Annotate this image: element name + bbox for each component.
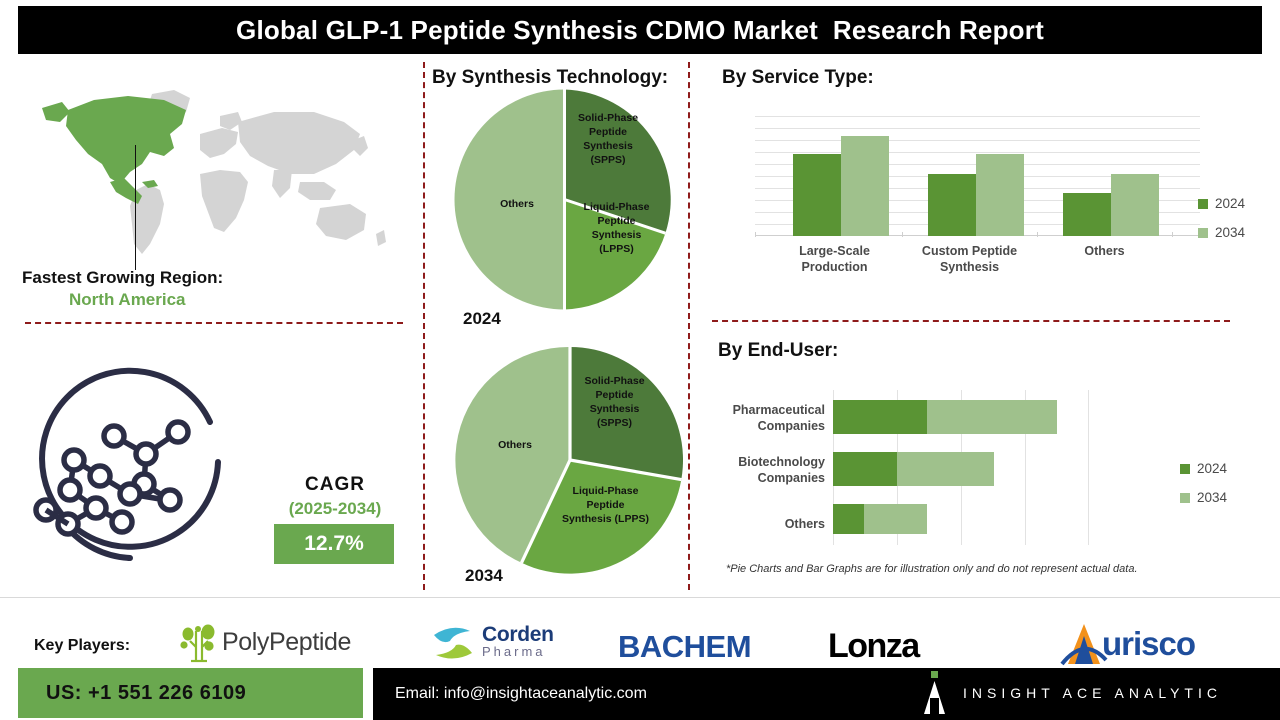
- footer-phone-bar: US: +1 551 226 6109: [18, 668, 363, 718]
- pie-2034-lpps-line2: Peptide: [548, 499, 663, 513]
- aurisco-mark-icon: [1060, 620, 1108, 668]
- bar-2024: [928, 174, 976, 236]
- pie-2024-spps-line4: (SPPS): [558, 154, 658, 168]
- divider-horizontal-right: [712, 320, 1230, 322]
- bar-row-pharmaceutical-companies: [833, 400, 1088, 434]
- divider-vertical-left: [423, 62, 425, 590]
- pie-2034-label-spps: Solid-Phase Peptide Synthesis (SPPS): [563, 375, 666, 430]
- logo-corden-line2: Pharma: [482, 645, 554, 659]
- legend-item-2034: 2034: [1180, 490, 1227, 505]
- header-bar: Global GLP-1 Peptide Synthesis CDMO Mark…: [18, 6, 1262, 54]
- footer-brand-name: INSIGHT ACE ANALYTIC: [963, 685, 1222, 701]
- section-title-service: By Service Type:: [722, 67, 874, 89]
- legend-swatch-2024: [1198, 199, 1208, 209]
- bar-2024: [1063, 193, 1111, 236]
- pie-2024-lpps-line3: Synthesis: [565, 229, 668, 243]
- fastest-growing-region-label: Fastest Growing Region:: [22, 268, 223, 288]
- divider-vertical-right: [688, 62, 690, 590]
- pie-2024-lpps-line4: (LPPS): [565, 243, 668, 257]
- pie-2024-label-others: Others: [482, 198, 552, 212]
- map-region-north-america: [42, 96, 186, 204]
- service-type-legend: 2024 2034: [1198, 196, 1245, 254]
- bar-group-custom-peptide-synthesis: [902, 116, 1037, 236]
- logo-bachem: BACHEM: [618, 627, 751, 667]
- pie-2024-year: 2024: [463, 309, 501, 329]
- section-title-synthesis: By Synthesis Technology:: [432, 67, 668, 89]
- legend-label-2024: 2024: [1215, 196, 1245, 211]
- hcat-line2: Companies: [700, 418, 825, 434]
- chart-disclaimer-note: *Pie Charts and Bar Graphs are for illus…: [726, 563, 1138, 575]
- axis-tick: [1172, 232, 1173, 237]
- legend-item-2024: 2024: [1180, 461, 1227, 476]
- axis-tick: [902, 232, 903, 237]
- axis-tick: [1037, 232, 1038, 237]
- bar-category-label-others: Others: [1037, 244, 1172, 260]
- insight-ace-logo-icon: [918, 668, 952, 720]
- bar-2034: [897, 452, 994, 486]
- hcat-line1: Biotechnology: [700, 454, 825, 470]
- corden-swoosh-icon: [430, 623, 476, 663]
- cagr-title: CAGR: [275, 474, 395, 496]
- section-title-enduser: By End-User:: [718, 340, 838, 362]
- legend-swatch-2034: [1180, 493, 1190, 503]
- pie-2034-spps-line1: Solid-Phase: [563, 375, 666, 389]
- world-map: [24, 78, 404, 263]
- map-pointer-line: [135, 145, 136, 270]
- bar-2024: [833, 452, 897, 486]
- footer-bar: Email: info@insightaceanalytic.com INSIG…: [373, 668, 1280, 720]
- legend-item-2034: 2034: [1198, 225, 1245, 240]
- bar-category-label-pharmaceutical-companies: Pharmaceutical Companies: [700, 402, 825, 435]
- bar-2024: [793, 154, 841, 236]
- bar-category-label-biotechnology-companies: Biotechnology Companies: [700, 454, 825, 487]
- end-user-legend: 2024 2034: [1180, 461, 1227, 519]
- bar-2024: [833, 504, 864, 534]
- pie-2024-label-spps: Solid-Phase Peptide Synthesis (SPPS): [558, 112, 658, 167]
- hcat-line1: Pharmaceutical: [700, 402, 825, 418]
- polypeptide-mark-icon: [178, 621, 222, 665]
- service-type-bar-chart: Large-Scale Production Custom Peptide Sy…: [755, 116, 1200, 236]
- logo-lonza: Lonza: [828, 624, 919, 668]
- bar-2034: [864, 504, 928, 534]
- pie-2034-spps-line3: Synthesis: [563, 403, 666, 417]
- legend-swatch-2034: [1198, 228, 1208, 238]
- bar-group-others: [1037, 116, 1172, 236]
- logo-corden-line1: Corden: [482, 625, 554, 645]
- logo-aurisco-text: urisco: [1102, 625, 1195, 663]
- legend-label-2024: 2024: [1197, 461, 1227, 476]
- pie-2024-spps-line1: Solid-Phase: [558, 112, 658, 126]
- bar-category-label-others-enduser: Others: [700, 516, 825, 532]
- cat-label-line2: Production: [767, 260, 902, 276]
- pie-2024-label-lpps: Liquid-Phase Peptide Synthesis (LPPS): [565, 201, 668, 256]
- bar-2034: [927, 400, 1057, 434]
- hcat-line1: Others: [700, 516, 825, 532]
- logo-polypeptide-text: PolyPeptide: [222, 628, 351, 657]
- axis-tick: [755, 232, 756, 237]
- divider-footer-rule: [0, 597, 1280, 598]
- footer-phone: US: +1 551 226 6109: [18, 682, 246, 705]
- legend-swatch-2024: [1180, 464, 1190, 474]
- pie-2034-spps-line2: Peptide: [563, 389, 666, 403]
- cat-label-line1: Custom Peptide: [902, 244, 1037, 260]
- hcat-line2: Companies: [700, 470, 825, 486]
- divider-horizontal-left: [25, 322, 403, 324]
- logo-bachem-text: BACHEM: [618, 629, 751, 665]
- pie-2034-label-others: Others: [480, 439, 550, 453]
- footer-email: Email: info@insightaceanalytic.com: [373, 685, 647, 703]
- end-user-bar-chart: [833, 390, 1088, 545]
- pie-2034-label-lpps: Liquid-Phase Peptide Synthesis (LPPS): [548, 485, 663, 527]
- bar-2034: [1111, 174, 1159, 236]
- bar-row-others: [833, 504, 1088, 534]
- legend-label-2034: 2034: [1197, 490, 1227, 505]
- infographic-root: Global GLP-1 Peptide Synthesis CDMO Mark…: [0, 0, 1280, 720]
- pie-2034-lpps-line1: Liquid-Phase: [548, 485, 663, 499]
- key-players-label: Key Players:: [34, 637, 130, 655]
- bar-group-large-scale-production: [767, 116, 902, 236]
- bar-2034: [841, 136, 889, 236]
- bar-row-biotechnology-companies: [833, 452, 1088, 486]
- molecule-chain-icon: [26, 358, 250, 582]
- logo-aurisco: urisco: [1060, 620, 1195, 668]
- cagr-range: (2025-2034): [264, 499, 406, 519]
- cat-label-line2: Synthesis: [902, 260, 1037, 276]
- gridline: [1088, 390, 1089, 545]
- cat-label-line1: Others: [1037, 244, 1172, 260]
- bar-category-label-large-scale-production: Large-Scale Production: [767, 244, 902, 275]
- pie-2024-lpps-line1: Liquid-Phase: [565, 201, 668, 215]
- pie-2024-spps-line3: Synthesis: [558, 140, 658, 154]
- bar-2024: [833, 400, 927, 434]
- pie-2034-spps-line4: (SPPS): [563, 417, 666, 431]
- legend-label-2034: 2034: [1215, 225, 1245, 240]
- pie-2024-lpps-line2: Peptide: [565, 215, 668, 229]
- logo-corden-pharma: Corden Pharma: [430, 620, 554, 665]
- bar-category-label-custom-peptide-synthesis: Custom Peptide Synthesis: [902, 244, 1037, 275]
- logo-lonza-text: Lonza: [828, 627, 919, 666]
- cagr-value: 12.7%: [304, 532, 364, 556]
- pie-2024-spps-line2: Peptide: [558, 126, 658, 140]
- page-title: Global GLP-1 Peptide Synthesis CDMO Mark…: [236, 15, 1044, 46]
- pie-2034-year: 2034: [465, 566, 503, 586]
- bar-2034: [976, 154, 1024, 236]
- fastest-growing-region-value: North America: [69, 290, 186, 310]
- logo-polypeptide: PolyPeptide: [178, 620, 351, 665]
- cat-label-line1: Large-Scale: [767, 244, 902, 260]
- pie-2034-lpps-line3: Synthesis (LPPS): [548, 513, 663, 527]
- legend-item-2024: 2024: [1198, 196, 1245, 211]
- cagr-value-chip: 12.7%: [274, 524, 394, 564]
